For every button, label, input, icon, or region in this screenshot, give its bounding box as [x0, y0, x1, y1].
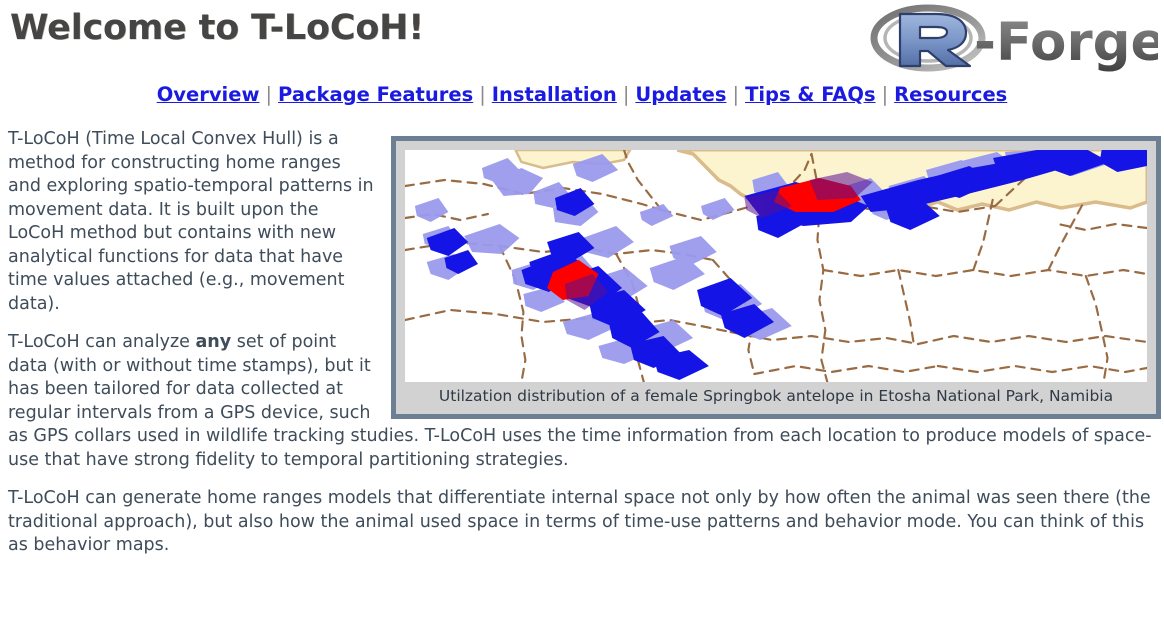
nav-link-tips-faqs[interactable]: Tips & FAQs — [745, 83, 876, 106]
nav-link-package-features[interactable]: Package Features — [278, 83, 473, 106]
r-logo-letter — [900, 14, 970, 66]
nav-separator-2: | — [473, 83, 492, 106]
paragraph-behavior-maps: T-LoCoH can generate home ranges models … — [8, 487, 1156, 558]
figure-utilization-distribution: Utilzation distribution of a female Spri… — [391, 136, 1161, 419]
nav-separator-4: | — [726, 83, 745, 106]
nav-link-resources[interactable]: Resources — [894, 83, 1007, 106]
paragraph-analyze-part-a: T-LoCoH can analyze — [8, 332, 195, 352]
page-header: Welcome to T-LoCoH! — [0, 0, 1164, 78]
nav-link-overview[interactable]: Overview — [157, 83, 260, 106]
main-nav: Overview|Package Features|Installation|U… — [0, 83, 1164, 106]
figure-caption: Utilzation distribution of a female Spri… — [405, 382, 1147, 410]
r-forge-wordmark: -Forge — [974, 12, 1158, 73]
nav-separator-1: | — [259, 83, 278, 106]
nav-separator-3: | — [617, 83, 636, 106]
nav-link-installation[interactable]: Installation — [492, 83, 617, 106]
nav-link-updates[interactable]: Updates — [635, 83, 726, 106]
page-title: Welcome to T-LoCoH! — [10, 8, 424, 48]
r-forge-logo[interactable]: -Forge — [862, 2, 1158, 74]
paragraph-analyze-emphasis: any — [195, 332, 231, 352]
nav-separator-5: | — [876, 83, 895, 106]
main-content: Utilzation distribution of a female Spri… — [0, 128, 1164, 573]
map-image — [405, 150, 1147, 382]
